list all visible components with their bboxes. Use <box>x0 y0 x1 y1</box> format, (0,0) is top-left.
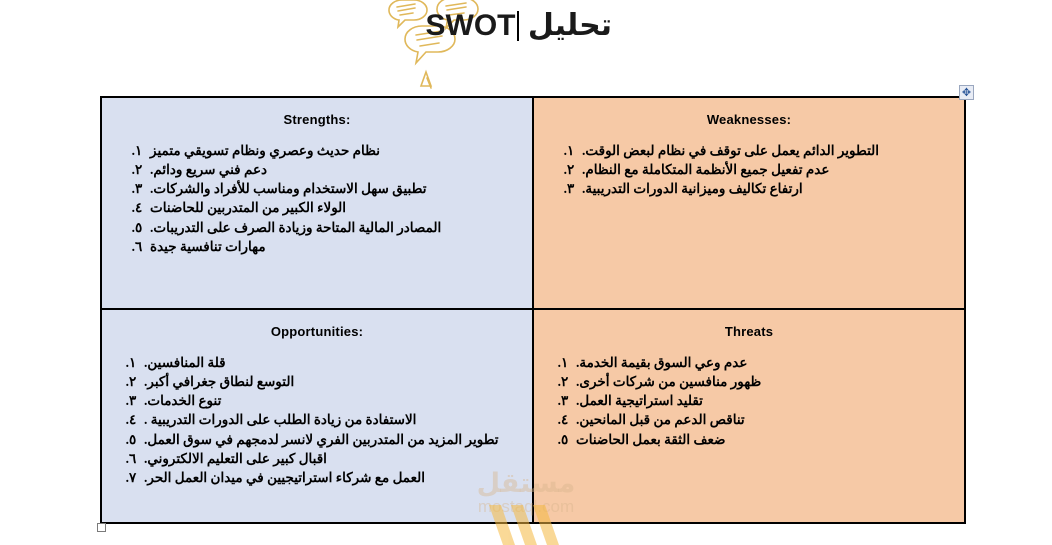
list-item-text: عدم تفعيل جميع الأنظمة المتكاملة مع النظ… <box>582 160 829 179</box>
list-item-number: ١. <box>556 141 582 160</box>
list-item-number: ٣. <box>118 391 144 410</box>
list-item: عدم وعي السوق بقيمة الخدمة. ١. <box>550 353 948 372</box>
list-item: دعم فني سريع ودائم. ٢. <box>124 160 516 179</box>
list-item-number: ٣. <box>556 179 582 198</box>
list-item: عدم تفعيل جميع الأنظمة المتكاملة مع النظ… <box>556 160 948 179</box>
table-resize-handle[interactable] <box>97 523 106 532</box>
quadrant-heading-opportunities: Opportunities: <box>118 324 516 339</box>
opportunities-list: قلة المنافسين. ١. التوسع لنطاق جغرافي أك… <box>118 353 516 487</box>
list-item-text: نظام حديث وعصري ونظام تسويقي متميز <box>150 141 380 160</box>
list-item-text: تطوير المزيد من المتدربين الفري لانسر لد… <box>144 430 499 449</box>
list-item-text: تطبيق سهل الاستخدام ومناسب للأفراد والشر… <box>150 179 426 198</box>
list-item-number: ٢. <box>124 160 150 179</box>
list-item-text: الولاء الكبير من المتدربين للحاضنات <box>150 198 346 217</box>
list-item-text: اقبال كبير على التعليم الالكتروني. <box>144 449 327 468</box>
list-item-number: ٤. <box>124 198 150 217</box>
quadrant-weaknesses[interactable]: Weaknesses: التطوير الدائم يعمل على توقف… <box>533 97 965 309</box>
list-item-number: ٢. <box>118 372 144 391</box>
list-item: التطوير الدائم يعمل على توقف في نظام لبع… <box>556 141 948 160</box>
list-item-number: ٦. <box>118 449 144 468</box>
list-item: المصادر المالية المتاحة وزيادة الصرف على… <box>124 218 516 237</box>
page-title: تحليل SWOT <box>0 8 612 43</box>
quadrant-opportunities[interactable]: Opportunities: قلة المنافسين. ١. التوسع … <box>101 309 533 523</box>
strengths-list: نظام حديث وعصري ونظام تسويقي متميز ١. دع… <box>118 141 516 256</box>
list-item: اقبال كبير على التعليم الالكتروني. ٦. <box>118 449 516 468</box>
list-item: تقليد استراتيجية العمل. ٣. <box>550 391 948 410</box>
list-item-number: ٤. <box>550 410 576 429</box>
list-item: الاستفادة من زيادة الطلب على الدورات الت… <box>118 410 516 429</box>
list-item: نظام حديث وعصري ونظام تسويقي متميز ١. <box>124 141 516 160</box>
list-item-number: ٧. <box>118 468 144 487</box>
list-item-number: ٢. <box>550 372 576 391</box>
list-item-text: المصادر المالية المتاحة وزيادة الصرف على… <box>150 218 441 237</box>
list-item-text: التطوير الدائم يعمل على توقف في نظام لبع… <box>582 141 879 160</box>
list-item: ظهور منافسين من شركات أخرى. ٢. <box>550 372 948 391</box>
list-item: التوسع لنطاق جغرافي أكبر. ٢. <box>118 372 516 391</box>
table-row-top: Weaknesses: التطوير الدائم يعمل على توقف… <box>101 97 965 309</box>
list-item-number: ١. <box>124 141 150 160</box>
quadrant-heading-strengths: Strengths: <box>118 112 516 127</box>
list-item-number: ١. <box>550 353 576 372</box>
list-item-number: ٥. <box>118 430 144 449</box>
threats-list: عدم وعي السوق بقيمة الخدمة. ١. ظهور مناف… <box>550 353 948 449</box>
list-item-number: ٣. <box>124 179 150 198</box>
list-item: ارتفاع تكاليف وميزانية الدورات التدريبية… <box>556 179 948 198</box>
table-move-handle-icon[interactable]: ✥ <box>959 85 974 100</box>
text-cursor <box>517 11 519 41</box>
list-item-text: التوسع لنطاق جغرافي أكبر. <box>144 372 294 391</box>
list-item: الولاء الكبير من المتدربين للحاضنات ٤. <box>124 198 516 217</box>
list-item: مهارات تنافسية جيدة ٦. <box>124 237 516 256</box>
list-item-text: تنوع الخدمات. <box>144 391 221 410</box>
list-item: العمل مع شركاء استراتيجيين في ميدان العم… <box>118 468 516 487</box>
list-item: تنوع الخدمات. ٣. <box>118 391 516 410</box>
list-item-text: تناقص الدعم من قبل المانحين. <box>576 410 745 429</box>
list-item-text: مهارات تنافسية جيدة <box>150 237 266 256</box>
list-item: تطبيق سهل الاستخدام ومناسب للأفراد والشر… <box>124 179 516 198</box>
list-item-text: ظهور منافسين من شركات أخرى. <box>576 372 761 391</box>
list-item-text: ارتفاع تكاليف وميزانية الدورات التدريبية… <box>582 179 803 198</box>
list-item: تطوير المزيد من المتدربين الفري لانسر لد… <box>118 430 516 449</box>
weaknesses-list: التطوير الدائم يعمل على توقف في نظام لبع… <box>550 141 948 198</box>
quadrant-threats[interactable]: Threats عدم وعي السوق بقيمة الخدمة. ١. ظ… <box>533 309 965 523</box>
page-title-arabic: تحليل <box>520 9 613 42</box>
page-bottom-marker <box>520 528 523 538</box>
list-item-number: ٥. <box>124 218 150 237</box>
list-item-number: ٤. <box>118 410 144 429</box>
list-item: ضعف الثقة بعمل الحاضنات ٥. <box>550 430 948 449</box>
quadrant-strengths[interactable]: Strengths: نظام حديث وعصري ونظام تسويقي … <box>101 97 533 309</box>
list-item-text: دعم فني سريع ودائم. <box>150 160 267 179</box>
list-item-number: ٥. <box>550 430 576 449</box>
list-item-number: ٦. <box>124 237 150 256</box>
list-item-text: تقليد استراتيجية العمل. <box>576 391 703 410</box>
table-row-bottom: Threats عدم وعي السوق بقيمة الخدمة. ١. ظ… <box>101 309 965 523</box>
page-title-acronym: SWOT <box>426 9 516 42</box>
title-area: تحليل SWOT <box>0 0 1052 88</box>
list-item-text: عدم وعي السوق بقيمة الخدمة. <box>576 353 747 372</box>
list-item-number: ١. <box>118 353 144 372</box>
list-item-text: قلة المنافسين. <box>144 353 226 372</box>
list-item-number: ٢. <box>556 160 582 179</box>
list-item-number: ٣. <box>550 391 576 410</box>
list-item: تناقص الدعم من قبل المانحين. ٤. <box>550 410 948 429</box>
list-item-text: العمل مع شركاء استراتيجيين في ميدان العم… <box>144 468 425 487</box>
quadrant-heading-weaknesses: Weaknesses: <box>550 112 948 127</box>
list-item-text: الاستفادة من زيادة الطلب على الدورات الت… <box>144 410 416 429</box>
list-item-text: ضعف الثقة بعمل الحاضنات <box>576 430 725 449</box>
list-item: قلة المنافسين. ١. <box>118 353 516 372</box>
quadrant-heading-threats: Threats <box>550 324 948 339</box>
swot-table: Weaknesses: التطوير الدائم يعمل على توقف… <box>100 96 966 524</box>
